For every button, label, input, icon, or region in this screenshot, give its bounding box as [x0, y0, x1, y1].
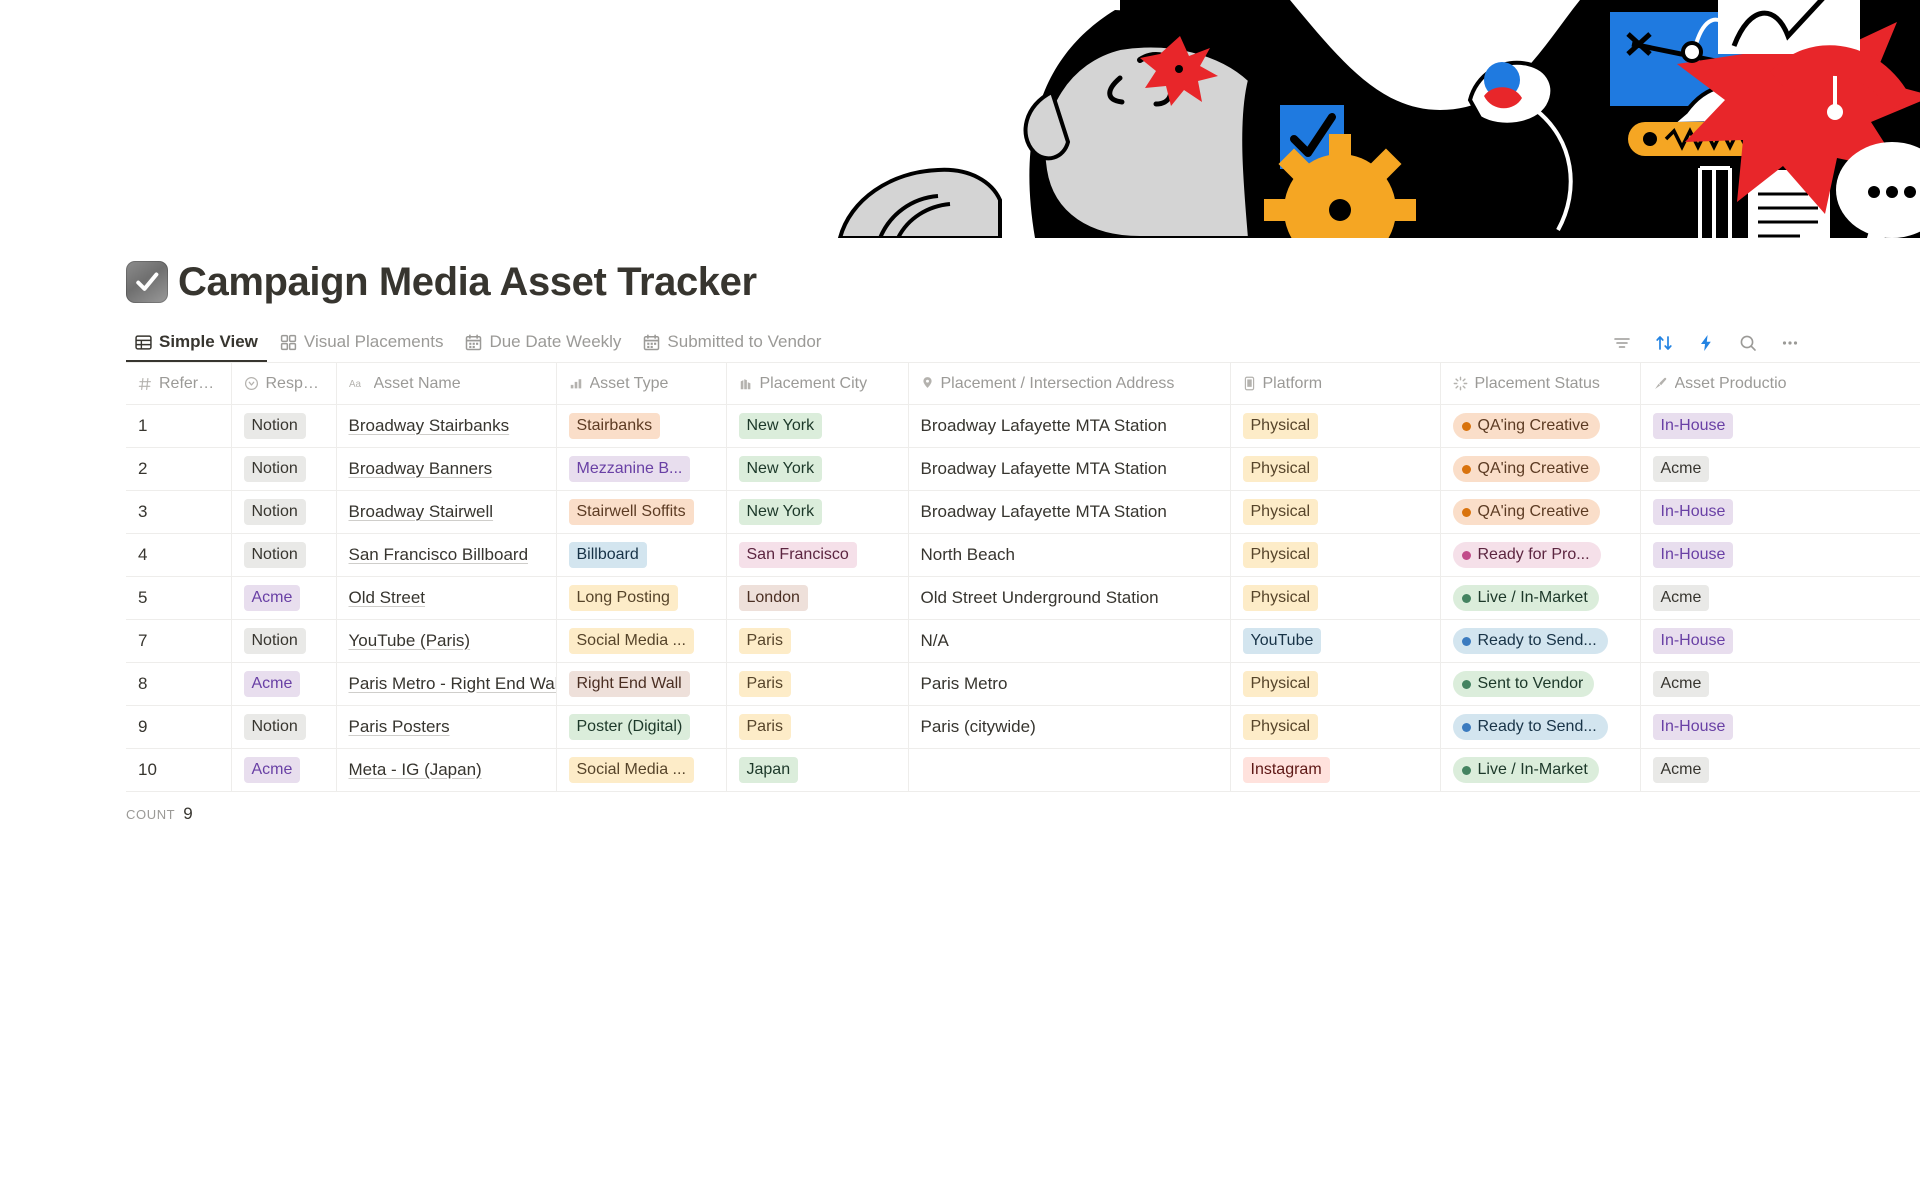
- asset-type-pill: Social Media ...: [569, 628, 694, 654]
- status-pill-label: QA'ing Creative: [1478, 459, 1590, 479]
- cell-placement-city[interactable]: New York: [726, 448, 908, 491]
- table-grid-icon: [135, 334, 152, 351]
- view-toolbar: Simple View Visual Placements: [0, 322, 1920, 362]
- cell-asset-name[interactable]: San Francisco Billboard: [336, 534, 556, 577]
- cell-placement-status[interactable]: Live / In-Market: [1440, 749, 1640, 792]
- cell-asset-name[interactable]: Paris Posters: [336, 706, 556, 749]
- map-pin-icon: [921, 376, 934, 391]
- column-header-label: Asset Productio: [1675, 375, 1787, 393]
- cell-asset-type[interactable]: Social Media ...: [556, 620, 726, 663]
- table-header-row: Refere... Respo...: [126, 363, 1920, 405]
- column-header-asset-type[interactable]: Asset Type: [556, 363, 726, 405]
- asset-name-link[interactable]: Meta - IG (Japan): [349, 760, 482, 779]
- production-pill: In-House: [1653, 413, 1734, 439]
- status-pill: Live / In-Market: [1453, 757, 1599, 783]
- cell-responsible[interactable]: Notion: [231, 706, 336, 749]
- search-icon[interactable]: [1738, 333, 1758, 353]
- status-pill-label: QA'ing Creative: [1478, 502, 1590, 522]
- cell-placement-city[interactable]: San Francisco: [726, 534, 908, 577]
- asset-name-link[interactable]: Paris Posters: [349, 717, 450, 736]
- cell-placement-status[interactable]: Ready for Pro...: [1440, 534, 1640, 577]
- column-header-asset-name[interactable]: Aa Asset Name: [336, 363, 556, 405]
- tab-submitted-to-vendor[interactable]: Submitted to Vendor: [634, 322, 830, 362]
- asset-type-pill: Long Posting: [569, 585, 678, 611]
- tab-visual-placements[interactable]: Visual Placements: [271, 322, 453, 362]
- cell-placement-address[interactable]: Paris (citywide): [908, 706, 1230, 749]
- cell-asset-name[interactable]: YouTube (Paris): [336, 620, 556, 663]
- table-footer-count[interactable]: COUNT 9: [0, 804, 1920, 824]
- cell-placement-status[interactable]: Ready to Send...: [1440, 706, 1640, 749]
- platform-pill: Physical: [1243, 542, 1319, 568]
- status-pill: QA'ing Creative: [1453, 413, 1601, 439]
- column-header-label: Placement Status: [1475, 375, 1600, 393]
- column-header-platform[interactable]: Platform: [1230, 363, 1440, 405]
- asset-name-link[interactable]: Broadway Banners: [349, 459, 493, 478]
- cell-asset-production[interactable]: In-House: [1640, 491, 1920, 534]
- cell-placement-address[interactable]: North Beach: [908, 534, 1230, 577]
- database-table: Refere... Respo...: [126, 362, 1920, 792]
- platform-pill: Physical: [1243, 714, 1319, 740]
- cell-reference: 9: [126, 706, 231, 749]
- asset-type-pill: Stairbanks: [569, 413, 661, 439]
- cell-responsible[interactable]: Notion: [231, 448, 336, 491]
- cell-reference: 8: [126, 663, 231, 706]
- cell-asset-production[interactable]: In-House: [1640, 706, 1920, 749]
- responsible-pill: Notion: [244, 413, 306, 439]
- status-pill-label: Ready for Pro...: [1478, 545, 1590, 565]
- cell-asset-production[interactable]: In-House: [1640, 620, 1920, 663]
- cell-platform[interactable]: Physical: [1230, 405, 1440, 448]
- production-pill: Acme: [1653, 757, 1710, 783]
- table-row[interactable]: 2 Notion Broadway Banners Mezzanine B...…: [126, 448, 1920, 491]
- tab-due-date-weekly[interactable]: Due Date Weekly: [456, 322, 630, 362]
- responsible-pill: Notion: [244, 499, 306, 525]
- platform-pill: Physical: [1243, 585, 1319, 611]
- cell-placement-city[interactable]: New York: [726, 405, 908, 448]
- city-pill: London: [739, 585, 808, 611]
- platform-pill: YouTube: [1243, 628, 1322, 654]
- cell-placement-address[interactable]: Broadway Lafayette MTA Station: [908, 405, 1230, 448]
- tab-label: Submitted to Vendor: [667, 332, 821, 352]
- column-header-label: Respo...: [266, 375, 324, 393]
- cell-asset-production[interactable]: Acme: [1640, 577, 1920, 620]
- cell-reference: 4: [126, 534, 231, 577]
- status-pill: QA'ing Creative: [1453, 499, 1601, 525]
- city-pill: Paris: [739, 628, 791, 654]
- responsible-pill: Acme: [244, 671, 301, 697]
- svg-text:Aa: Aa: [349, 379, 362, 390]
- cell-platform[interactable]: Instagram: [1230, 749, 1440, 792]
- cell-placement-city[interactable]: Paris: [726, 620, 908, 663]
- status-pill-label: QA'ing Creative: [1478, 416, 1590, 436]
- city-pill: Paris: [739, 671, 791, 697]
- status-pill-label: Sent to Vendor: [1478, 674, 1584, 694]
- column-header-placement-city[interactable]: Placement City: [726, 363, 908, 405]
- cell-asset-name[interactable]: Old Street: [336, 577, 556, 620]
- asset-name-link[interactable]: Broadway Stairwell: [349, 502, 494, 521]
- cell-placement-city[interactable]: London: [726, 577, 908, 620]
- column-header-asset-production[interactable]: Asset Productio: [1640, 363, 1920, 405]
- cell-platform[interactable]: Physical: [1230, 577, 1440, 620]
- status-dot: [1462, 551, 1471, 560]
- asset-name-link[interactable]: YouTube (Paris): [349, 631, 471, 650]
- cell-asset-type[interactable]: Billboard: [556, 534, 726, 577]
- status-pill: Ready to Send...: [1453, 628, 1608, 654]
- column-header-label: Asset Name: [374, 375, 461, 393]
- tab-label: Visual Placements: [304, 332, 444, 352]
- buildings-icon: [739, 377, 753, 391]
- status-pill-label: Live / In-Market: [1478, 588, 1588, 608]
- cell-placement-address[interactable]: Old Street Underground Station: [908, 577, 1230, 620]
- cell-placement-address[interactable]: N/A: [908, 620, 1230, 663]
- city-pill: New York: [739, 413, 823, 439]
- tab-label: Due Date Weekly: [489, 332, 621, 352]
- sort-icon[interactable]: [1654, 333, 1674, 353]
- asset-name-link[interactable]: Broadway Stairbanks: [349, 416, 510, 435]
- asset-name-link[interactable]: Paris Metro - Right End Wall: [349, 674, 557, 693]
- view-tool-icons: [1612, 333, 1800, 362]
- production-pill: In-House: [1653, 628, 1734, 654]
- cell-asset-production[interactable]: Acme: [1640, 448, 1920, 491]
- cell-reference: 1: [126, 405, 231, 448]
- production-pill: Acme: [1653, 671, 1710, 697]
- status-dot: [1462, 465, 1471, 474]
- select-circle-icon: [244, 376, 259, 391]
- column-header-reference[interactable]: Refere...: [126, 363, 231, 405]
- cell-reference: 10: [126, 749, 231, 792]
- cell-responsible[interactable]: Notion: [231, 534, 336, 577]
- cell-placement-city[interactable]: Paris: [726, 663, 908, 706]
- city-pill: Paris: [739, 714, 791, 740]
- cell-placement-status[interactable]: Sent to Vendor: [1440, 663, 1640, 706]
- phone-icon: [1243, 376, 1256, 391]
- paintbrush-icon: [1653, 376, 1668, 391]
- table-row[interactable]: 7 Notion YouTube (Paris) Social Media ..…: [126, 620, 1920, 663]
- status-pill-label: Ready to Send...: [1478, 631, 1597, 651]
- cell-placement-address[interactable]: Paris Metro: [908, 663, 1230, 706]
- responsible-pill: Notion: [244, 628, 306, 654]
- cell-asset-name[interactable]: Broadway Stairbanks: [336, 405, 556, 448]
- status-dot: [1462, 680, 1471, 689]
- cell-platform[interactable]: YouTube: [1230, 620, 1440, 663]
- banner-illustration: [820, 0, 1920, 238]
- platform-pill: Physical: [1243, 499, 1319, 525]
- cell-placement-status[interactable]: Ready to Send...: [1440, 620, 1640, 663]
- column-header-label: Platform: [1263, 375, 1323, 393]
- asset-type-pill: Stairwell Soffits: [569, 499, 694, 525]
- column-header-responsible[interactable]: Respo...: [231, 363, 336, 405]
- responsible-pill: Notion: [244, 714, 306, 740]
- status-pill: Sent to Vendor: [1453, 671, 1595, 697]
- cell-placement-status[interactable]: QA'ing Creative: [1440, 448, 1640, 491]
- column-header-label: Asset Type: [590, 375, 669, 393]
- status-pill: Ready to Send...: [1453, 714, 1608, 740]
- status-pill-label: Live / In-Market: [1478, 760, 1588, 780]
- table-row[interactable]: 10 Acme Meta - IG (Japan) Social Media .…: [126, 749, 1920, 792]
- cell-platform[interactable]: Physical: [1230, 491, 1440, 534]
- table-body: 1 Notion Broadway Stairbanks Stairbanks …: [126, 405, 1920, 792]
- tab-simple-view[interactable]: Simple View: [126, 322, 267, 362]
- view-tabs: Simple View Visual Placements: [126, 322, 830, 362]
- table-row[interactable]: 5 Acme Old Street Long Posting London Ol…: [126, 577, 1920, 620]
- cell-asset-type[interactable]: Stairwell Soffits: [556, 491, 726, 534]
- calendar-icon: [643, 334, 660, 351]
- cell-asset-name[interactable]: Paris Metro - Right End Wall: [336, 663, 556, 706]
- column-header-label: Refere...: [159, 375, 219, 393]
- cell-responsible[interactable]: Acme: [231, 663, 336, 706]
- cell-responsible[interactable]: Acme: [231, 749, 336, 792]
- cell-reference: 7: [126, 620, 231, 663]
- tab-label: Simple View: [159, 332, 258, 352]
- cell-placement-address[interactable]: Broadway Lafayette MTA Station: [908, 448, 1230, 491]
- table-row[interactable]: 3 Notion Broadway Stairwell Stairwell So…: [126, 491, 1920, 534]
- status-dot: [1462, 508, 1471, 517]
- city-pill: Japan: [739, 757, 799, 783]
- cell-placement-status[interactable]: QA'ing Creative: [1440, 405, 1640, 448]
- page-header: Campaign Media Asset Tracker: [0, 238, 1920, 304]
- cell-responsible[interactable]: Notion: [231, 491, 336, 534]
- cell-asset-type[interactable]: Social Media ...: [556, 749, 726, 792]
- filter-icon[interactable]: [1612, 333, 1632, 353]
- status-pill: QA'ing Creative: [1453, 456, 1601, 482]
- platform-pill: Physical: [1243, 671, 1319, 697]
- cell-platform[interactable]: Physical: [1230, 448, 1440, 491]
- status-dot: [1462, 594, 1471, 603]
- status-pill-label: Ready to Send...: [1478, 717, 1597, 737]
- table-row[interactable]: 8 Acme Paris Metro - Right End Wall Righ…: [126, 663, 1920, 706]
- cell-placement-address[interactable]: [908, 749, 1230, 792]
- platform-pill: Instagram: [1243, 757, 1330, 783]
- cell-reference: 2: [126, 448, 231, 491]
- asset-type-pill: Right End Wall: [569, 671, 690, 697]
- count-label: COUNT: [126, 807, 175, 822]
- cell-asset-type[interactable]: Long Posting: [556, 577, 726, 620]
- column-header-placement-status[interactable]: Placement Status: [1440, 363, 1640, 405]
- cell-asset-name[interactable]: Broadway Stairwell: [336, 491, 556, 534]
- asset-name-link[interactable]: San Francisco Billboard: [349, 545, 529, 564]
- cell-placement-status[interactable]: QA'ing Creative: [1440, 491, 1640, 534]
- platform-pill: Physical: [1243, 456, 1319, 482]
- bar-chart-icon: [569, 377, 583, 391]
- cell-responsible[interactable]: Notion: [231, 620, 336, 663]
- asset-type-pill: Poster (Digital): [569, 714, 691, 740]
- city-pill: New York: [739, 456, 823, 482]
- status-dot: [1462, 723, 1471, 732]
- white-check-mark-emoji: [126, 261, 168, 303]
- automation-lightning-icon[interactable]: [1696, 333, 1716, 353]
- cell-asset-production[interactable]: In-House: [1640, 534, 1920, 577]
- cell-asset-type[interactable]: Stairbanks: [556, 405, 726, 448]
- cell-asset-type[interactable]: Poster (Digital): [556, 706, 726, 749]
- column-header-placement-address[interactable]: Placement / Intersection Address: [908, 363, 1230, 405]
- cell-reference: 5: [126, 577, 231, 620]
- asset-name-link[interactable]: Old Street: [349, 588, 426, 607]
- cell-platform[interactable]: Physical: [1230, 534, 1440, 577]
- responsible-pill: Acme: [244, 757, 301, 783]
- table-row[interactable]: 1 Notion Broadway Stairbanks Stairbanks …: [126, 405, 1920, 448]
- count-value: 9: [183, 804, 192, 824]
- cell-placement-city[interactable]: Japan: [726, 749, 908, 792]
- cell-asset-production[interactable]: In-House: [1640, 405, 1920, 448]
- table-row[interactable]: 4 Notion San Francisco Billboard Billboa…: [126, 534, 1920, 577]
- platform-pill: Physical: [1243, 413, 1319, 439]
- gallery-icon: [280, 334, 297, 351]
- status-dot: [1462, 637, 1471, 646]
- cell-placement-city[interactable]: New York: [726, 491, 908, 534]
- cell-asset-type[interactable]: Mezzanine B...: [556, 448, 726, 491]
- cell-asset-production[interactable]: Acme: [1640, 749, 1920, 792]
- asset-type-pill: Billboard: [569, 542, 647, 568]
- cell-asset-production[interactable]: Acme: [1640, 663, 1920, 706]
- production-pill: Acme: [1653, 585, 1710, 611]
- status-dot: [1462, 422, 1471, 431]
- page-cover-banner: [820, 0, 1920, 238]
- cell-responsible[interactable]: Notion: [231, 405, 336, 448]
- table-row[interactable]: 9 Notion Paris Posters Poster (Digital) …: [126, 706, 1920, 749]
- status-pill: Live / In-Market: [1453, 585, 1599, 611]
- responsible-pill: Acme: [244, 585, 301, 611]
- responsible-pill: Notion: [244, 456, 306, 482]
- page-title: Campaign Media Asset Tracker: [178, 260, 757, 304]
- calendar-icon: [465, 334, 482, 351]
- column-header-label: Placement / Intersection Address: [941, 375, 1175, 393]
- column-header-label: Placement City: [760, 375, 868, 393]
- status-pill: Ready for Pro...: [1453, 542, 1601, 568]
- asset-type-pill: Social Media ...: [569, 757, 694, 783]
- page-content: Campaign Media Asset Tracker Simple View: [0, 238, 1920, 824]
- cell-placement-status[interactable]: Live / In-Market: [1440, 577, 1640, 620]
- status-dot: [1462, 766, 1471, 775]
- city-pill: New York: [739, 499, 823, 525]
- cell-platform[interactable]: Physical: [1230, 706, 1440, 749]
- city-pill: San Francisco: [739, 542, 857, 568]
- production-pill: In-House: [1653, 499, 1734, 525]
- spinner-icon: [1453, 376, 1468, 391]
- text-aa-icon: Aa: [349, 377, 367, 390]
- cell-placement-city[interactable]: Paris: [726, 706, 908, 749]
- cell-placement-address[interactable]: Broadway Lafayette MTA Station: [908, 491, 1230, 534]
- cell-asset-name[interactable]: Broadway Banners: [336, 448, 556, 491]
- more-options-icon[interactable]: [1780, 333, 1800, 353]
- responsible-pill: Notion: [244, 542, 306, 568]
- production-pill: Acme: [1653, 456, 1710, 482]
- cell-asset-type[interactable]: Right End Wall: [556, 663, 726, 706]
- cell-asset-name[interactable]: Meta - IG (Japan): [336, 749, 556, 792]
- asset-type-pill: Mezzanine B...: [569, 456, 691, 482]
- cell-platform[interactable]: Physical: [1230, 663, 1440, 706]
- production-pill: In-House: [1653, 714, 1734, 740]
- cell-responsible[interactable]: Acme: [231, 577, 336, 620]
- production-pill: In-House: [1653, 542, 1734, 568]
- number-hash-icon: [138, 377, 152, 391]
- database-table-container[interactable]: Refere... Respo...: [0, 362, 1920, 792]
- cell-reference: 3: [126, 491, 231, 534]
